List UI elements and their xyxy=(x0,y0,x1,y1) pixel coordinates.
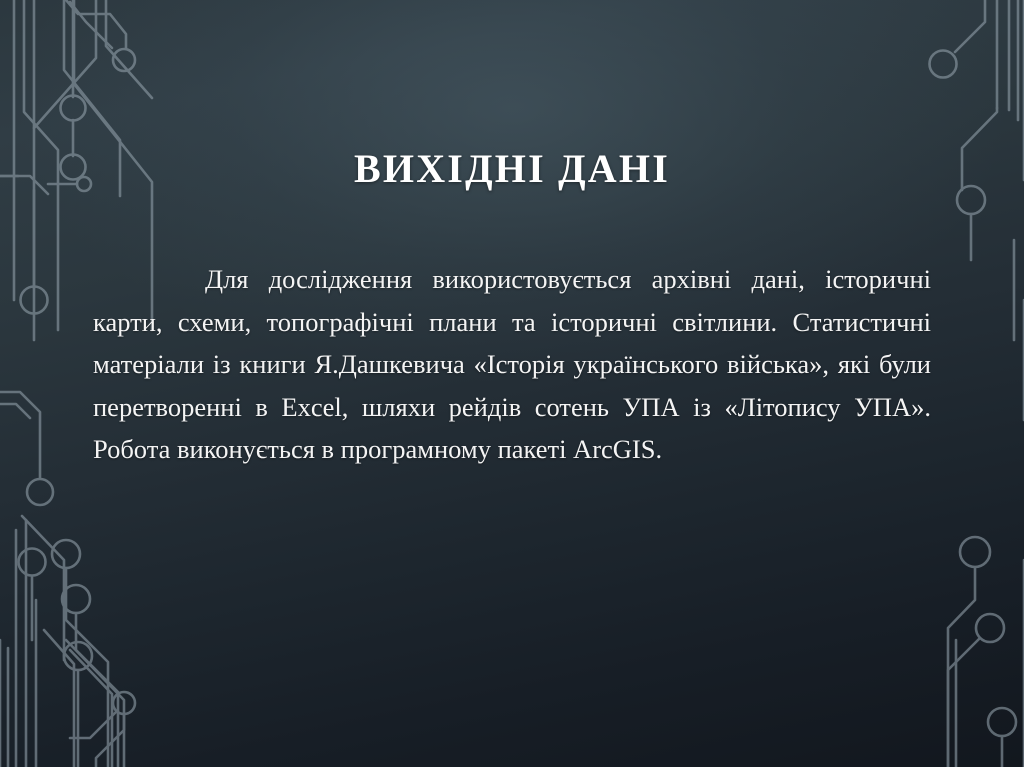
slide-body-text: Для дослідження використовується архівні… xyxy=(93,258,931,471)
page-title: Вихідні дані xyxy=(0,147,1024,191)
slide-content: Вихідні дані Для дослідження використову… xyxy=(0,0,1024,767)
presentation-slide: Вихідні дані Для дослідження використову… xyxy=(0,0,1024,767)
